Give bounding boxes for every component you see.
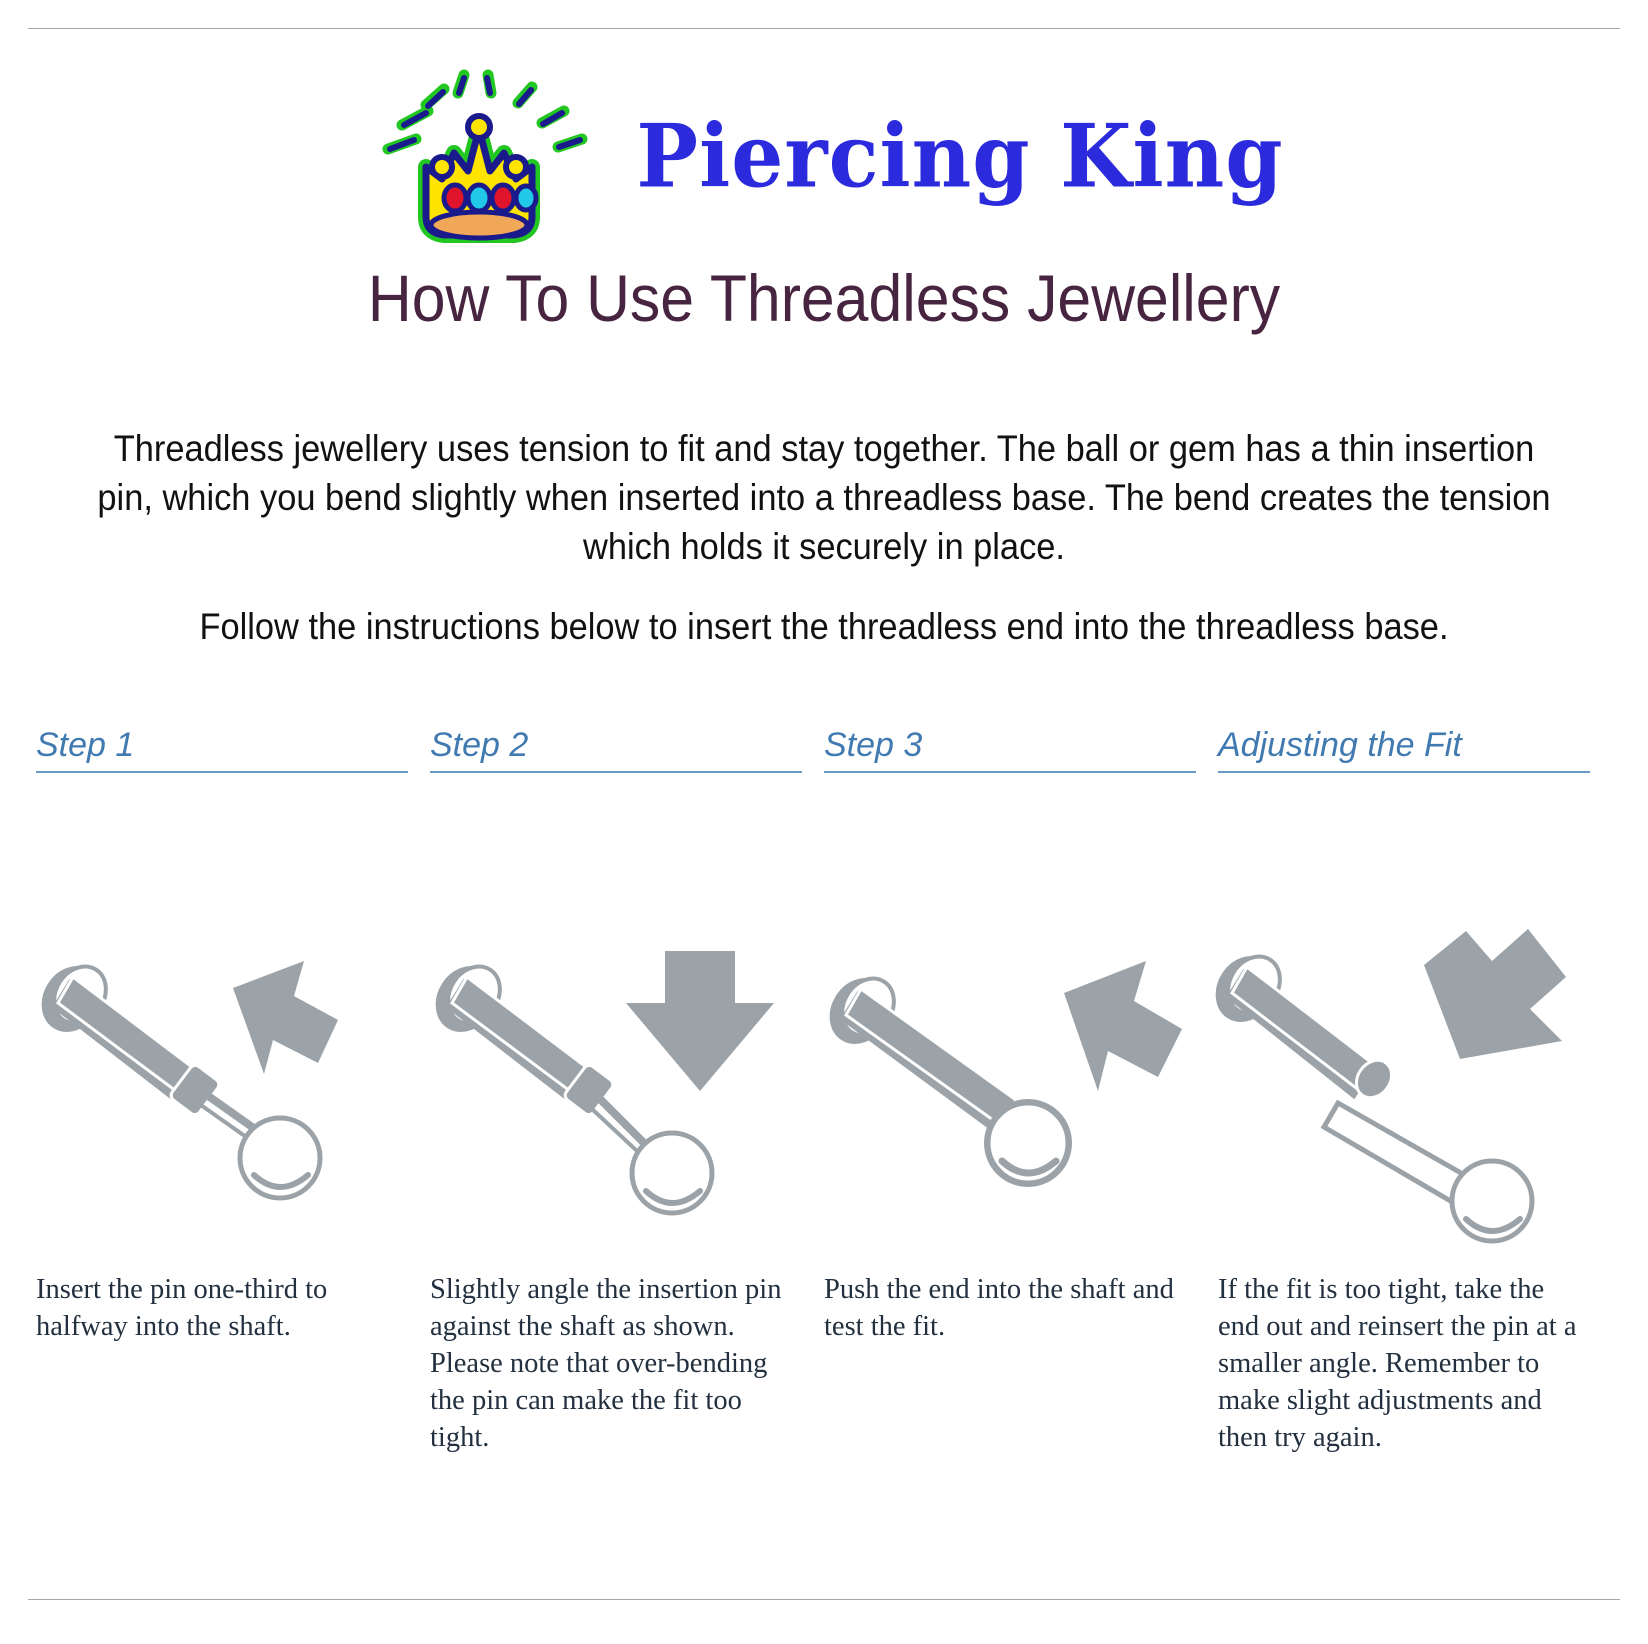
step-column-2: Step 2 Sligh (430, 726, 824, 1456)
step-illustration-1 (36, 801, 408, 1271)
step-column-3: Step 3 Push the end into the shaft and (824, 726, 1218, 1456)
page-top-rule (28, 28, 1620, 29)
steps-row: Step 1 Inser (36, 726, 1612, 1456)
step-heading-4: Adjusting the Fit (1218, 726, 1590, 773)
intro-text: Threadless jewellery uses tension to fit… (97, 424, 1552, 651)
arrow-up-left-icon (1064, 961, 1182, 1091)
page-bottom-rule (28, 1599, 1620, 1600)
logo-lockup: Piercing King (364, 67, 1283, 247)
intro-paragraph-2: Follow the instructions below to insert … (97, 602, 1552, 651)
arrow-down-icon (626, 951, 774, 1091)
document-page: Piercing King How To Use Threadless Jewe… (0, 0, 1648, 1644)
step-illustration-4 (1218, 801, 1590, 1271)
step-column-1: Step 1 Inser (36, 726, 430, 1456)
step-heading-1: Step 1 (36, 726, 408, 773)
page-title: How To Use Threadless Jewellery (66, 262, 1582, 335)
threadless-pin-arrow-up-left-icon (28, 951, 408, 1251)
step-caption-3: Push the end into the shaft and test the… (824, 1271, 1196, 1345)
arrow-down-right-icon (1424, 929, 1566, 1059)
step-caption-4: If the fit is too tight, take the end ou… (1218, 1271, 1590, 1456)
step-illustration-3 (824, 801, 1196, 1271)
step-column-4: Adjusting the Fit If the (1218, 726, 1612, 1456)
threadless-pin-seated-arrow-up-left-icon (816, 951, 1196, 1251)
intro-paragraph-1: Threadless jewellery uses tension to fit… (97, 424, 1552, 572)
threadless-pin-removal-arrow-down-right-icon (1210, 951, 1590, 1251)
brand-name: Piercing King (636, 114, 1283, 201)
step-caption-1: Insert the pin one-third to halfway into… (36, 1271, 408, 1345)
step-illustration-2 (430, 801, 802, 1271)
step-heading-2: Step 2 (430, 726, 802, 773)
arrow-up-left-icon (233, 961, 338, 1074)
threadless-pin-arrow-down-icon (422, 951, 802, 1251)
step-heading-3: Step 3 (824, 726, 1196, 773)
crown-icon (364, 67, 594, 247)
step-caption-2: Slightly angle the insertion pin against… (430, 1271, 802, 1456)
brand-header: Piercing King (0, 62, 1648, 252)
